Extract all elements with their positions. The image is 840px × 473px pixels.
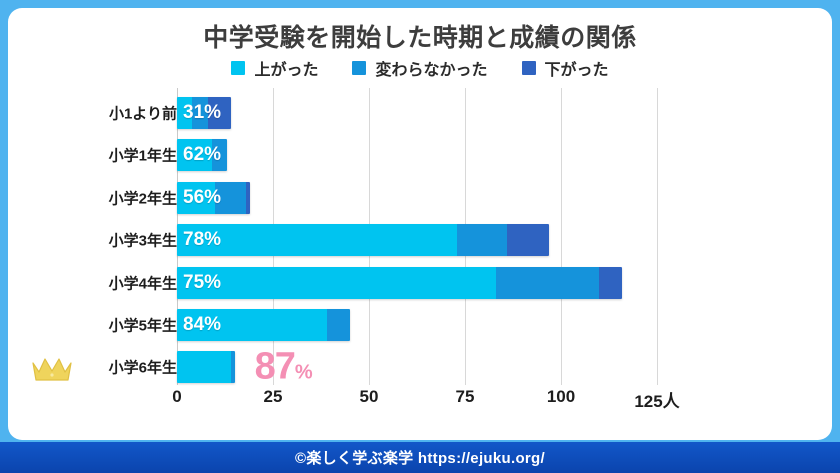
x-tick-label: 100: [547, 387, 575, 407]
stacked-bar[interactable]: [177, 139, 227, 171]
stacked-bar[interactable]: [177, 182, 250, 214]
bar-segment-2: [327, 309, 350, 341]
stacked-bar[interactable]: [177, 309, 350, 341]
bar-segment-3: [208, 97, 231, 129]
bar-segment-3: [507, 224, 549, 256]
category-label: 小学3年生: [109, 230, 177, 251]
category-label: 小学6年生: [109, 357, 177, 378]
bar-segment-1: [177, 224, 457, 256]
legend-swatch-icon: [231, 61, 245, 75]
bar-segment-1: [177, 309, 327, 341]
footer-bar: ©楽しく学ぶ楽学 https://ejuku.org/: [0, 442, 840, 473]
bar-row[interactable]: 小学2年生56%: [8, 177, 832, 219]
category-label: 小学1年生: [109, 145, 177, 166]
bar-segment-2: [457, 224, 507, 256]
footer-credit: ©楽しく学ぶ楽学 https://ejuku.org/: [295, 447, 545, 468]
legend-item-3[interactable]: 下がった: [522, 56, 609, 80]
bar-segment-1: [177, 139, 212, 171]
chart-title: 中学受験を開始した時期と成績の関係: [8, 18, 832, 54]
x-tick-label: 125人: [634, 387, 679, 412]
chart-frame: 中学受験を開始した時期と成績の関係 上がった変わらなかった下がった 小1より前3…: [0, 0, 840, 473]
x-tick-label: 25: [264, 387, 283, 407]
legend-swatch-icon: [522, 61, 536, 75]
bar-segment-1: [177, 97, 192, 129]
x-tick-label: 0: [172, 387, 181, 407]
bar-rows: 小1より前31%小学1年生62%小学2年生56%小学3年生78%小学4年生75%…: [8, 88, 832, 385]
x-axis: 0255075100125人: [8, 385, 832, 413]
legend-swatch-icon: [352, 61, 366, 75]
legend-item-1[interactable]: 上がった: [231, 56, 318, 80]
category-label: 小学4年生: [109, 272, 177, 293]
category-label: 小学5年生: [109, 315, 177, 336]
bar-row[interactable]: 小学6年生87%: [8, 346, 832, 388]
category-label: 小学2年生: [109, 187, 177, 208]
stacked-bar[interactable]: [177, 351, 235, 383]
legend-item-2[interactable]: 変わらなかった: [352, 56, 487, 80]
bar-value-label: 87%: [255, 346, 312, 389]
category-label: 小1より前: [109, 103, 177, 124]
legend-label: 変わらなかった: [375, 56, 487, 80]
legend-label: 下がった: [545, 56, 609, 80]
bar-row[interactable]: 小学1年生62%: [8, 134, 832, 176]
bar-row[interactable]: 小学4年生75%: [8, 262, 832, 304]
stacked-bar[interactable]: [177, 267, 622, 299]
chart-panel: 中学受験を開始した時期と成績の関係 上がった変わらなかった下がった 小1より前3…: [8, 8, 832, 440]
bar-segment-2: [192, 97, 207, 129]
bar-segment-1: [177, 267, 496, 299]
x-tick-label: 75: [456, 387, 475, 407]
bar-segment-3: [599, 267, 622, 299]
bar-row[interactable]: 小学3年生78%: [8, 219, 832, 261]
bar-segment-2: [231, 351, 235, 383]
stacked-bar[interactable]: [177, 97, 231, 129]
bar-row[interactable]: 小学5年生84%: [8, 304, 832, 346]
bar-segment-1: [177, 351, 231, 383]
bar-row[interactable]: 小1より前31%: [8, 92, 832, 134]
bar-segment-3: [246, 182, 250, 214]
bar-segment-1: [177, 182, 215, 214]
bar-segment-2: [212, 139, 227, 171]
crown-icon: [30, 352, 74, 382]
plot-area: 小1より前31%小学1年生62%小学2年生56%小学3年生78%小学4年生75%…: [8, 88, 832, 408]
bar-segment-2: [215, 182, 246, 214]
chart-legend: 上がった変わらなかった下がった: [8, 56, 832, 80]
stacked-bar[interactable]: [177, 224, 549, 256]
legend-label: 上がった: [254, 56, 318, 80]
bar-segment-2: [496, 267, 600, 299]
x-tick-label: 50: [360, 387, 379, 407]
